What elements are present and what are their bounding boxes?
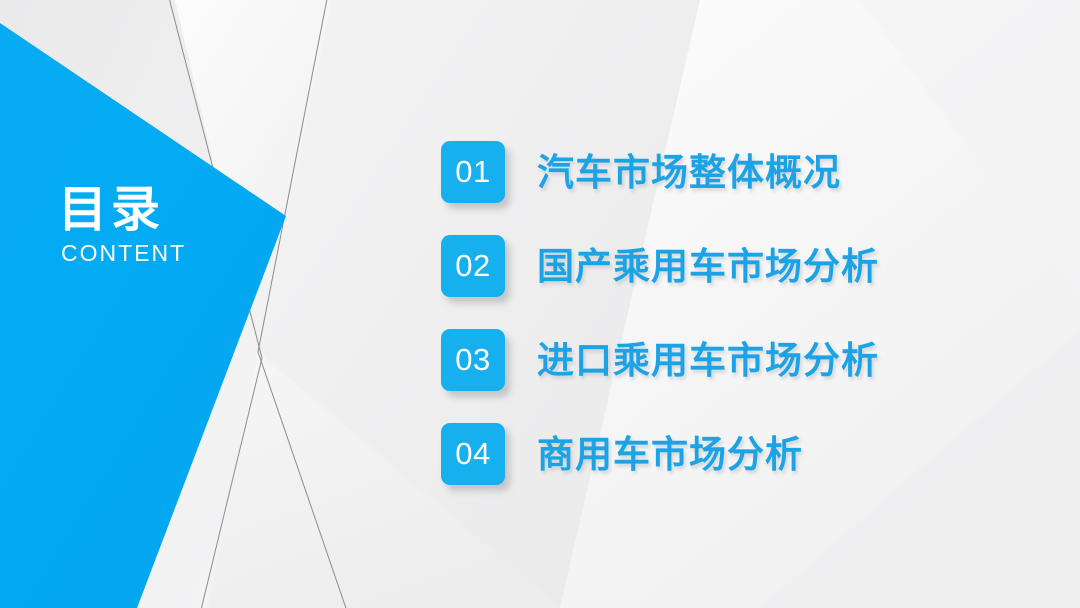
agenda-number-badge-3[interactable]: 03 xyxy=(441,329,505,391)
agenda-number-badge-2[interactable]: 02 xyxy=(441,235,505,297)
agenda-number-4: 04 xyxy=(455,438,490,469)
presentation-slide: 目录 CONTENT 01 汽车市场整体概况 02 国产乘用车市场分析 03 进… xyxy=(0,0,1080,608)
agenda-label-1[interactable]: 汽车市场整体概况 xyxy=(537,154,841,191)
agenda-item-4[interactable]: 04 商用车市场分析 xyxy=(441,423,879,485)
agenda-item-1[interactable]: 01 汽车市场整体概况 xyxy=(441,141,879,203)
agenda-number-3: 03 xyxy=(455,344,490,375)
agenda-label-3[interactable]: 进口乘用车市场分析 xyxy=(537,342,879,379)
agenda-number-2: 02 xyxy=(455,250,490,281)
agenda-list: 01 汽车市场整体概况 02 国产乘用车市场分析 03 进口乘用车市场分析 04… xyxy=(441,141,879,485)
agenda-number-1: 01 xyxy=(455,156,490,187)
agenda-item-3[interactable]: 03 进口乘用车市场分析 xyxy=(441,329,879,391)
agenda-item-2[interactable]: 02 国产乘用车市场分析 xyxy=(441,235,879,297)
agenda-label-4[interactable]: 商用车市场分析 xyxy=(537,436,803,473)
agenda-label-2[interactable]: 国产乘用车市场分析 xyxy=(537,248,879,285)
agenda-number-badge-4[interactable]: 04 xyxy=(441,423,505,485)
agenda-number-badge-1[interactable]: 01 xyxy=(441,141,505,203)
